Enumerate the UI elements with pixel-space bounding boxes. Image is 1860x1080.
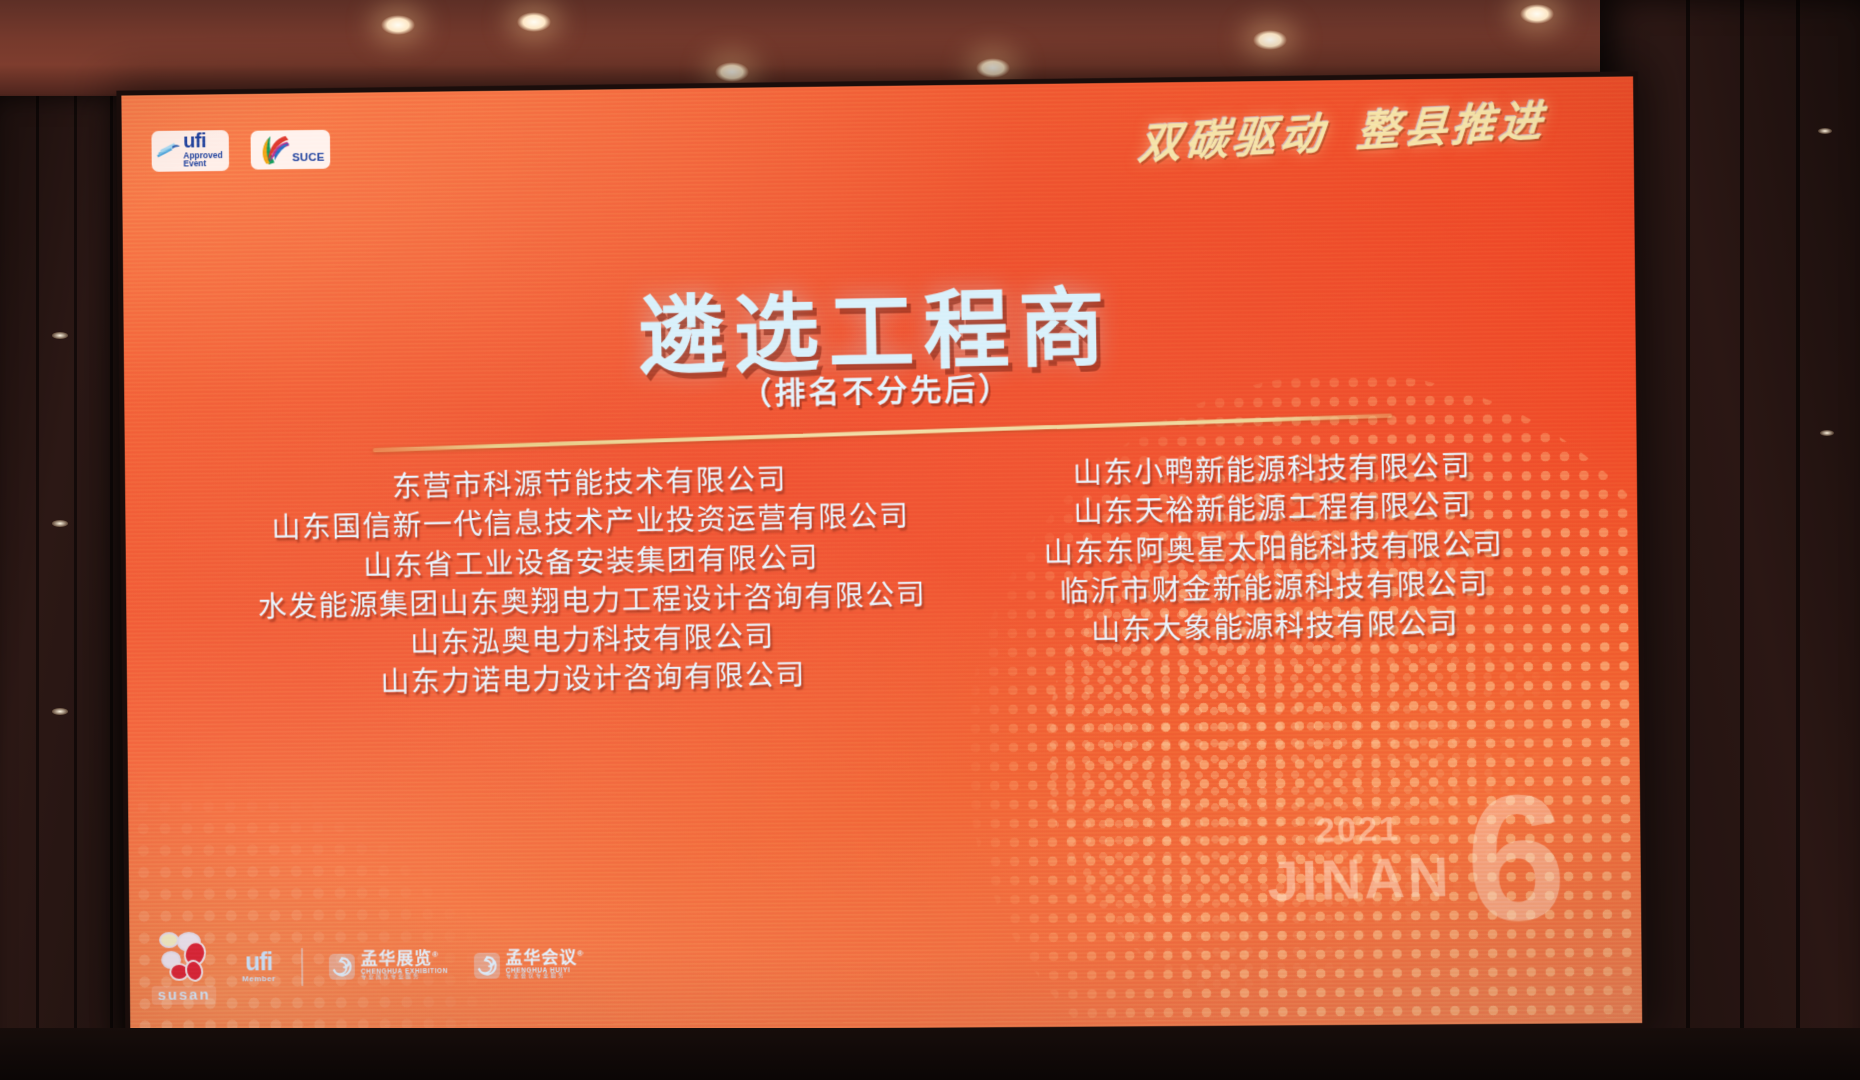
company-name: 山东力诺电力设计咨询有限公司 [380,656,806,702]
wall-seam [1796,0,1800,1080]
watermark-city: JINAN [1267,849,1453,910]
company-name: 山东小鸭新能源科技有限公司 [1072,446,1471,492]
wall-seam [74,96,77,1080]
photo-scene: ufi Approved Event SUCE 双碳驱动 整县推进 [0,0,1860,1080]
left-column: 东营市科源节能技术有限公司 山东国信新一代信息技术产业投资运营有限公司 山东省工… [255,457,928,704]
ceiling-spotlight [381,15,415,35]
wall-led-light [52,520,68,527]
registered-mark: ® [577,949,584,958]
susan-wordmark: susan [152,986,217,1005]
ufi-approved-line2: Event [183,159,222,168]
chenghua-exhibition-logo: 孟华展览® CHENGHUA EXHIBITION 专业展览专业服务 [329,950,448,982]
ufi-member-wordmark: ufi [245,950,273,975]
company-name: 山东大象能源科技有限公司 [1091,604,1460,649]
floor-band [0,1028,1860,1080]
susan-circles-logo: susan [151,930,216,1005]
brand-cn-name: 孟华会议® [505,949,584,968]
watermark-edition-number: 6 [1464,785,1568,930]
ufi-text-block: ufi Approved Event [183,132,223,168]
spiral-icon [474,952,500,978]
ufi-approved-event-logo: ufi Approved Event [151,130,228,171]
ufi-wing-icon [155,140,181,160]
footer-logo-group: susan ufi Member 孟华展览® CHENGHUA EXHIBITI… [151,927,584,1005]
event-watermark: 2021 JINAN 6 [1266,808,1549,909]
wall-led-light [1820,430,1834,436]
slogan-part-1: 双碳驱动 [1137,99,1330,172]
ufi-member-sub: Member [242,975,275,983]
company-name: 临沂市财金新能源科技有限公司 [1059,564,1489,610]
calligraphy-slogan: 双碳驱动 整县推进 [1137,86,1549,172]
chenghua-conference-logo: 孟华会议® CHENGHUA HUIYI 专业会议专业服务 [474,949,585,981]
wall-seam [36,96,39,1080]
wall-seam [110,96,113,1080]
company-name: 山东天裕新能源工程有限公司 [1073,486,1472,532]
brand-cn-name: 孟华展览® [361,950,448,969]
ceiling-spotlight [976,58,1010,78]
suce-wordmark: SUCE [292,152,325,166]
led-display-screen: ufi Approved Event SUCE 双碳驱动 整县推进 [121,76,1642,1032]
ceiling-spotlight [517,12,551,32]
spiral-icon [329,953,355,979]
header-logo-group: ufi Approved Event SUCE [151,129,330,172]
susan-circles-icon [153,930,215,984]
wall-seam [1740,0,1744,1080]
brand-tagline: 专业展览专业服务 [361,975,448,982]
company-name: 水发能源集团山东奥翔电力工程设计咨询有限公司 [258,575,927,626]
ceiling-spotlight [1253,30,1287,50]
logo-divider [301,948,303,986]
ufi-member-logo: ufi Member [242,950,276,983]
left-wall-panel [0,96,132,1080]
wall-seam [1686,0,1690,1080]
registered-mark: ® [432,950,439,959]
wall-led-light [52,708,68,715]
chenghua-conference-text: 孟华会议® CHENGHUA HUIYI 专业会议专业服务 [505,949,584,981]
suce-logo: SUCE [250,130,331,170]
ceiling-spotlight [1520,4,1554,24]
suce-leaf-icon [253,132,291,166]
company-name: 山东泓奥电力科技有限公司 [410,617,775,662]
ufi-wordmark: ufi [183,132,222,152]
chenghua-exhibition-text: 孟华展览® CHENGHUA EXHIBITION 专业展览专业服务 [361,950,448,982]
gold-divider-line [373,414,1392,453]
brand-tagline: 专业会议专业服务 [506,974,585,980]
company-columns: 东营市科源节能技术有限公司 山东国信新一代信息技术产业投资运营有限公司 山东省工… [124,443,1640,706]
slogan-part-2: 整县推进 [1355,86,1548,159]
ceiling-spotlight [715,62,749,82]
watermark-year: 2021 [1266,811,1451,850]
wall-led-light [1818,128,1832,134]
right-column: 山东小鸭新能源科技有限公司 山东天裕新能源工程有限公司 山东东阿奥星太阳能科技有… [1042,446,1506,690]
company-name: 东营市科源节能技术有限公司 [392,460,788,506]
wall-led-light [52,332,68,339]
